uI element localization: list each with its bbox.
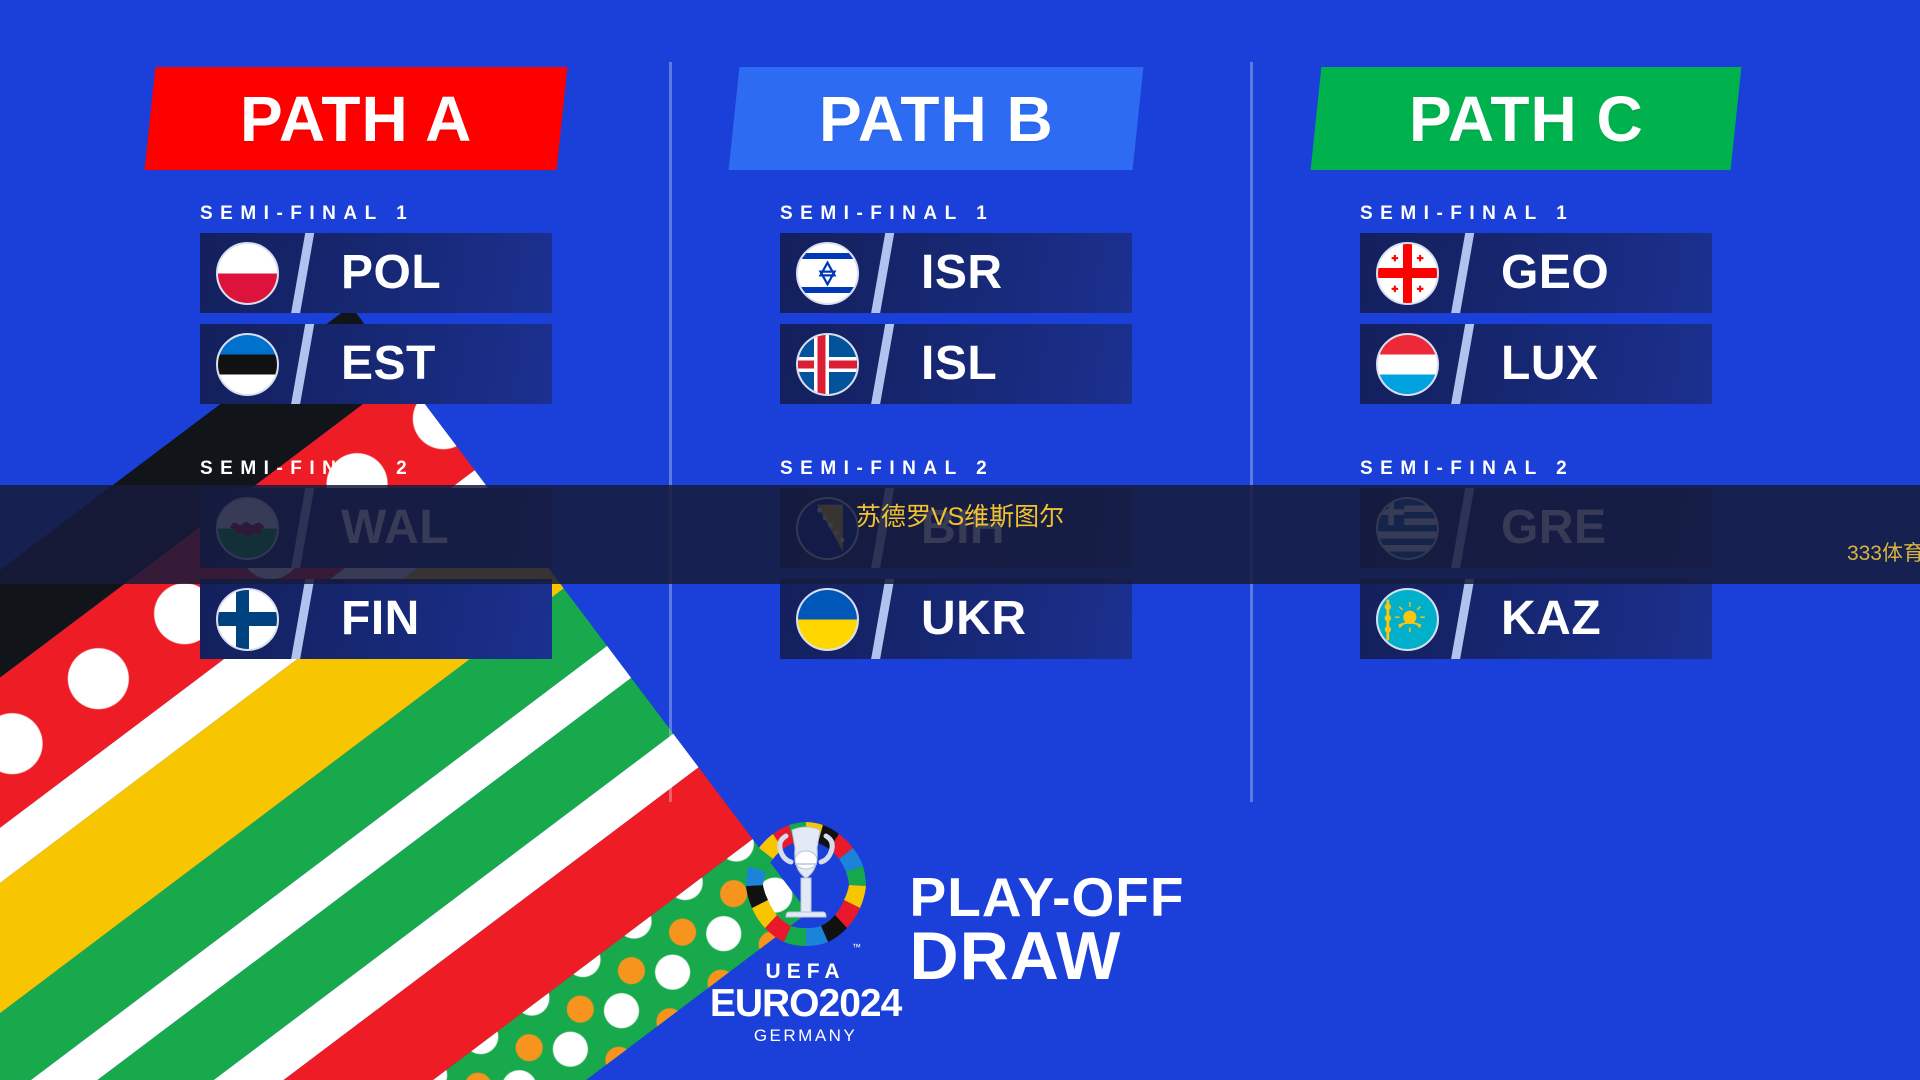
flag-cell [200, 242, 295, 305]
team-code: UKR [921, 595, 1027, 643]
path-a-semifinal-1-label: SEMI-FINAL 1 [200, 203, 620, 225]
path-b-title: PATH B [819, 87, 1054, 151]
luxembourg-flag [1376, 333, 1439, 396]
path-a-title: PATH A [240, 87, 472, 151]
path-b-semifinal-2-label: SEMI-FINAL 2 [780, 458, 1200, 480]
title-line-1: PLAY-OFF [910, 871, 1185, 924]
team-code: ISR [921, 249, 1003, 297]
georgia-five-crosses-icon [1378, 244, 1437, 303]
path-a-banner: PATH A [145, 67, 568, 170]
team-code: ISL [921, 340, 997, 388]
team-code: FIN [341, 595, 420, 643]
estonia-flag [216, 333, 279, 396]
team-code: POL [341, 249, 441, 297]
paths-container: PATH A SEMI-FINAL 1 POL EST SEMI-FINAL 2 [0, 0, 1920, 820]
table-row[interactable]: GEO [1360, 233, 1712, 313]
table-row[interactable]: POL [200, 233, 552, 313]
flag-cell [1360, 588, 1455, 651]
page-title: PLAY-OFF DRAW [910, 871, 1185, 989]
path-a-semifinal-2-label: SEMI-FINAL 2 [200, 458, 620, 480]
table-row[interactable]: KAZ [1360, 579, 1712, 659]
table-row[interactable]: ISL [780, 324, 1132, 404]
ukraine-flag [796, 588, 859, 651]
flag-cell [780, 242, 875, 305]
table-row[interactable]: FIN [200, 579, 552, 659]
iceland-flag [796, 333, 859, 396]
kazakhstan-flag [1376, 588, 1439, 651]
table-row[interactable]: LUX [1360, 324, 1712, 404]
flag-cell [200, 588, 295, 651]
team-code: EST [341, 340, 436, 388]
path-c-semifinal-2-label: SEMI-FINAL 2 [1360, 458, 1780, 480]
path-c-banner: PATH C [1311, 67, 1742, 170]
euro2024-logo: ™ UEFA EURO2024 GERMANY [736, 814, 876, 1046]
finland-flag [216, 588, 279, 651]
team-code: LUX [1501, 340, 1599, 388]
flag-cell [1360, 333, 1455, 396]
path-c-title: PATH C [1409, 87, 1644, 151]
overlay-watermark: 333体育 [1847, 537, 1920, 567]
flag-cell [780, 333, 875, 396]
flag-cell [1360, 242, 1455, 305]
footer: ™ UEFA EURO2024 GERMANY PLAY-OFF DRAW [0, 814, 1920, 1046]
svg-text:™: ™ [852, 942, 861, 952]
logo-country-text: GERMANY [754, 1026, 857, 1046]
team-code: GEO [1501, 249, 1609, 297]
path-c-semifinal-1-label: SEMI-FINAL 1 [1360, 203, 1780, 225]
overlay-headline: 苏德罗VS维斯图尔 [856, 497, 1064, 533]
path-b-banner: PATH B [729, 67, 1144, 170]
table-row[interactable]: EST [200, 324, 552, 404]
euro2024-trophy-icon: ™ [742, 814, 870, 964]
path-b-semifinal-1-label: SEMI-FINAL 1 [780, 203, 1200, 225]
team-code: KAZ [1501, 595, 1601, 643]
flag-cell [200, 333, 295, 396]
table-row[interactable]: UKR [780, 579, 1132, 659]
kazakhstan-sun-eagle-icon [1378, 590, 1437, 649]
stream-overlay-bar: 苏德罗VS维斯图尔 333体育 [0, 485, 1920, 584]
flag-cell [780, 588, 875, 651]
playoff-draw-graphic: PATH A SEMI-FINAL 1 POL EST SEMI-FINAL 2 [0, 0, 1920, 1080]
table-row[interactable]: ISR [780, 233, 1132, 313]
star-of-david-icon [798, 244, 857, 303]
israel-flag [796, 242, 859, 305]
title-line-2: DRAW [910, 924, 1185, 989]
georgia-flag [1376, 242, 1439, 305]
poland-flag [216, 242, 279, 305]
logo-uefa-text: UEFA [766, 960, 846, 984]
logo-event-text: EURO2024 [710, 984, 901, 1023]
